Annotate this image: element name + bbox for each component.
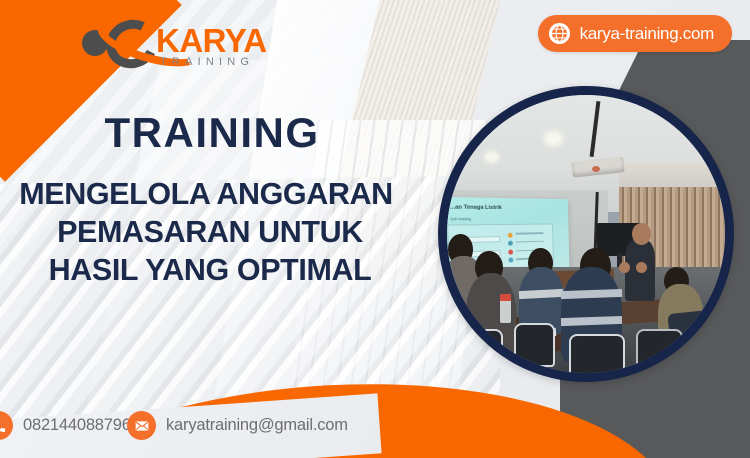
footer-contact-bar: 082144088796 karyatraining@gmail.com (0, 404, 750, 442)
photo-chair-2 (514, 323, 556, 367)
training-poster: KARYA TRAINING karya-training.com TRAINI… (0, 0, 750, 458)
photo-bottle-cap (500, 294, 511, 301)
title-line-1: MENGELOLA ANGGARAN (0, 176, 420, 214)
photo-downlight-2 (547, 134, 560, 143)
photo-attendee-4-stripe-1 (561, 289, 622, 299)
photo-water-bottle (500, 298, 511, 323)
page-title: MENGELOLA ANGGARAN PEMASARAN UNTUK HASIL… (0, 176, 420, 289)
slide-title: ...an Tenaga Listrik (450, 205, 502, 212)
slide-icon-1 (508, 232, 513, 237)
slide-icon-4 (509, 258, 514, 263)
photo-chair-3 (569, 334, 625, 381)
contact-phone[interactable]: 082144088796 (0, 411, 131, 440)
slide-icon-3 (508, 249, 513, 254)
slide-icon-2 (508, 241, 513, 246)
envelope-icon (127, 411, 156, 440)
slide-text-line-1 (516, 232, 543, 234)
photo-projector-lens (592, 166, 600, 172)
karya-logo[interactable]: KARYA TRAINING (78, 14, 268, 76)
logo-tagline: TRAINING (160, 56, 254, 68)
contact-email[interactable]: karyatraining@gmail.com (127, 411, 348, 440)
page-title-kicker: TRAINING (0, 112, 420, 154)
globe-icon (548, 22, 571, 45)
email-address-text: karyatraining@gmail.com (166, 416, 348, 435)
website-url-text: karya-training.com (580, 24, 714, 44)
phone-number-text: 082144088796 (23, 416, 131, 435)
photo-chair-1 (455, 329, 502, 379)
photo-attendee-3-stripe (519, 288, 564, 299)
headline-block: TRAINING MENGELOLA ANGGARAN PEMASARAN UN… (0, 112, 420, 289)
title-line-2: PEMASARAN UNTUK (0, 214, 420, 252)
slide-subtitle: Sub heading (451, 216, 472, 220)
website-badge[interactable]: karya-training.com (538, 15, 732, 52)
title-line-3: HASIL YANG OPTIMAL (0, 252, 420, 290)
photo-chair-4 (636, 329, 683, 373)
slide-text-line-2 (516, 241, 543, 243)
training-photo: ...an Tenaga Listrik Sub heading (438, 86, 734, 382)
logo-wordmark: KARYA (156, 22, 267, 60)
phone-icon (0, 411, 13, 440)
photo-speaker-hand-right (636, 262, 647, 273)
